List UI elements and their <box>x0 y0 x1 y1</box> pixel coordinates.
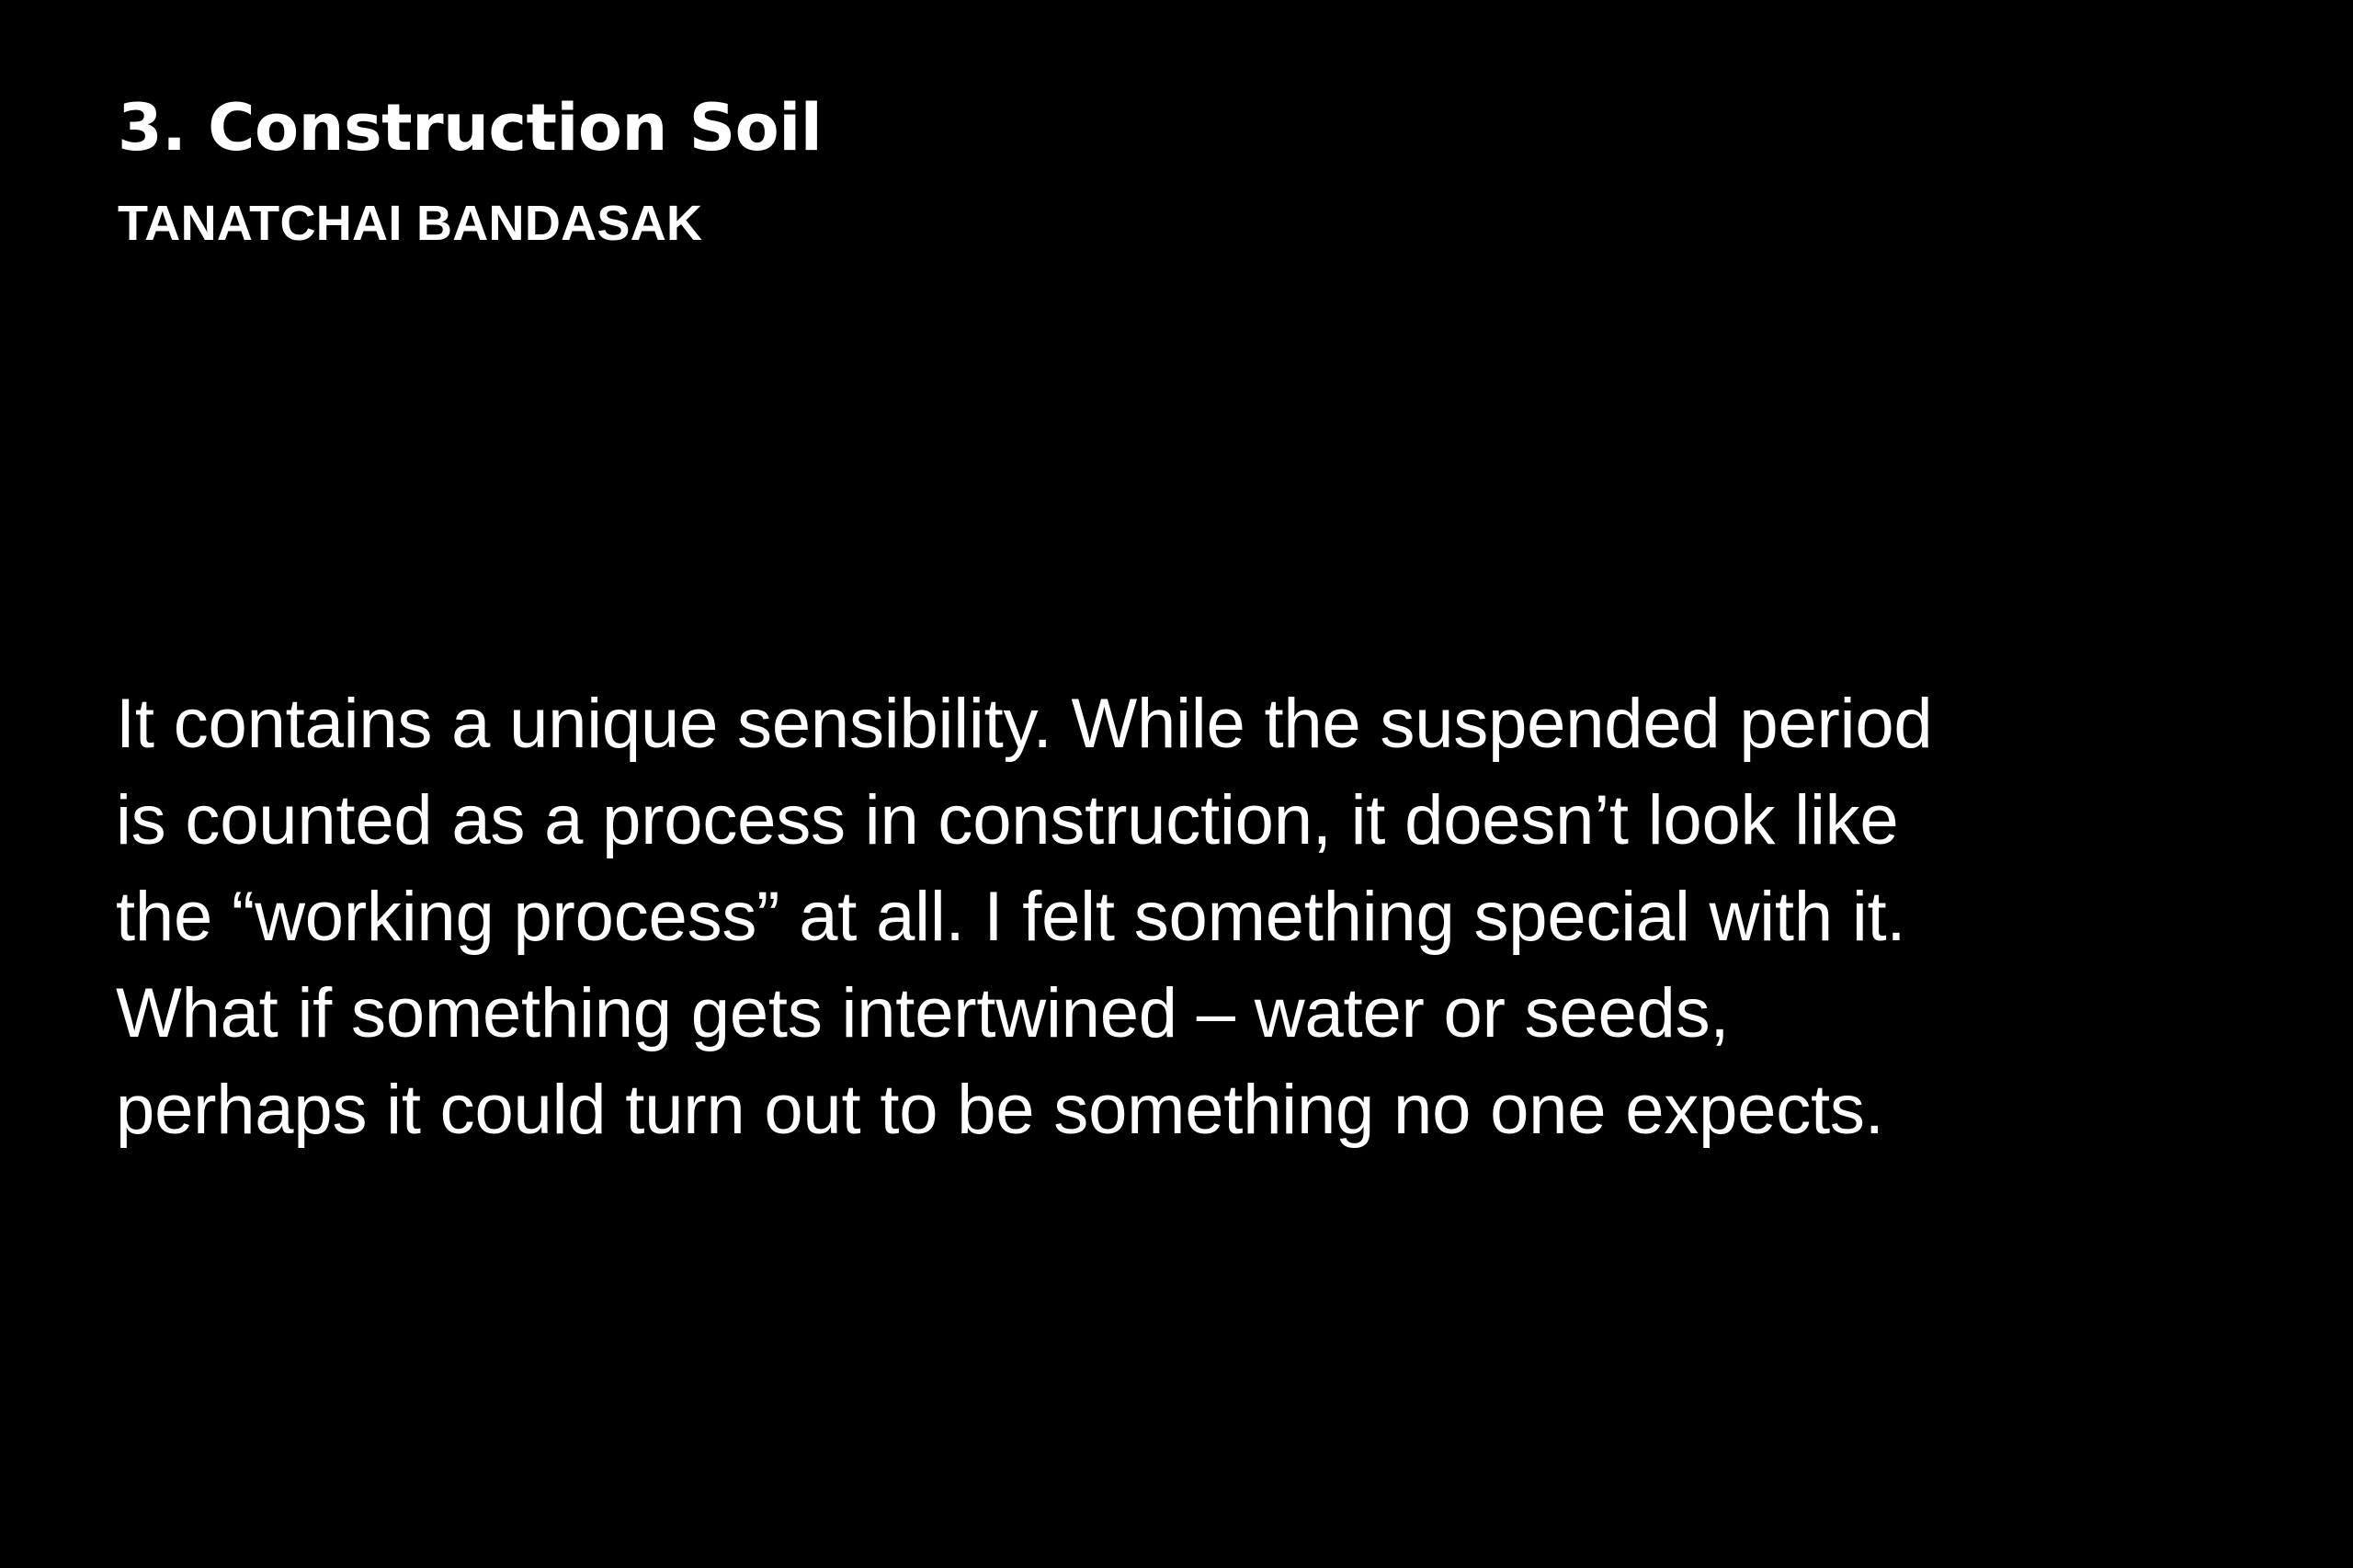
body-text-block: It contains a unique sensibility. While … <box>116 676 2239 1158</box>
body-line: is counted as a process in construction,… <box>116 772 2239 869</box>
body-line: What if something gets intertwined – wat… <box>116 965 2239 1062</box>
body-line: It contains a unique sensibility. While … <box>116 676 2239 772</box>
page-title: 3. Construction Soil <box>118 96 2232 160</box>
slide-header: 3. Construction Soil TANATCHAI BANDASAK <box>118 96 2232 248</box>
author-name: TANATCHAI BANDASAK <box>118 160 2232 248</box>
slide-root: 3. Construction Soil TANATCHAI BANDASAK … <box>0 0 2353 1568</box>
body-line: perhaps it could turn out to be somethin… <box>116 1062 2239 1158</box>
body-line: the “working process” at all. I felt som… <box>116 869 2239 965</box>
